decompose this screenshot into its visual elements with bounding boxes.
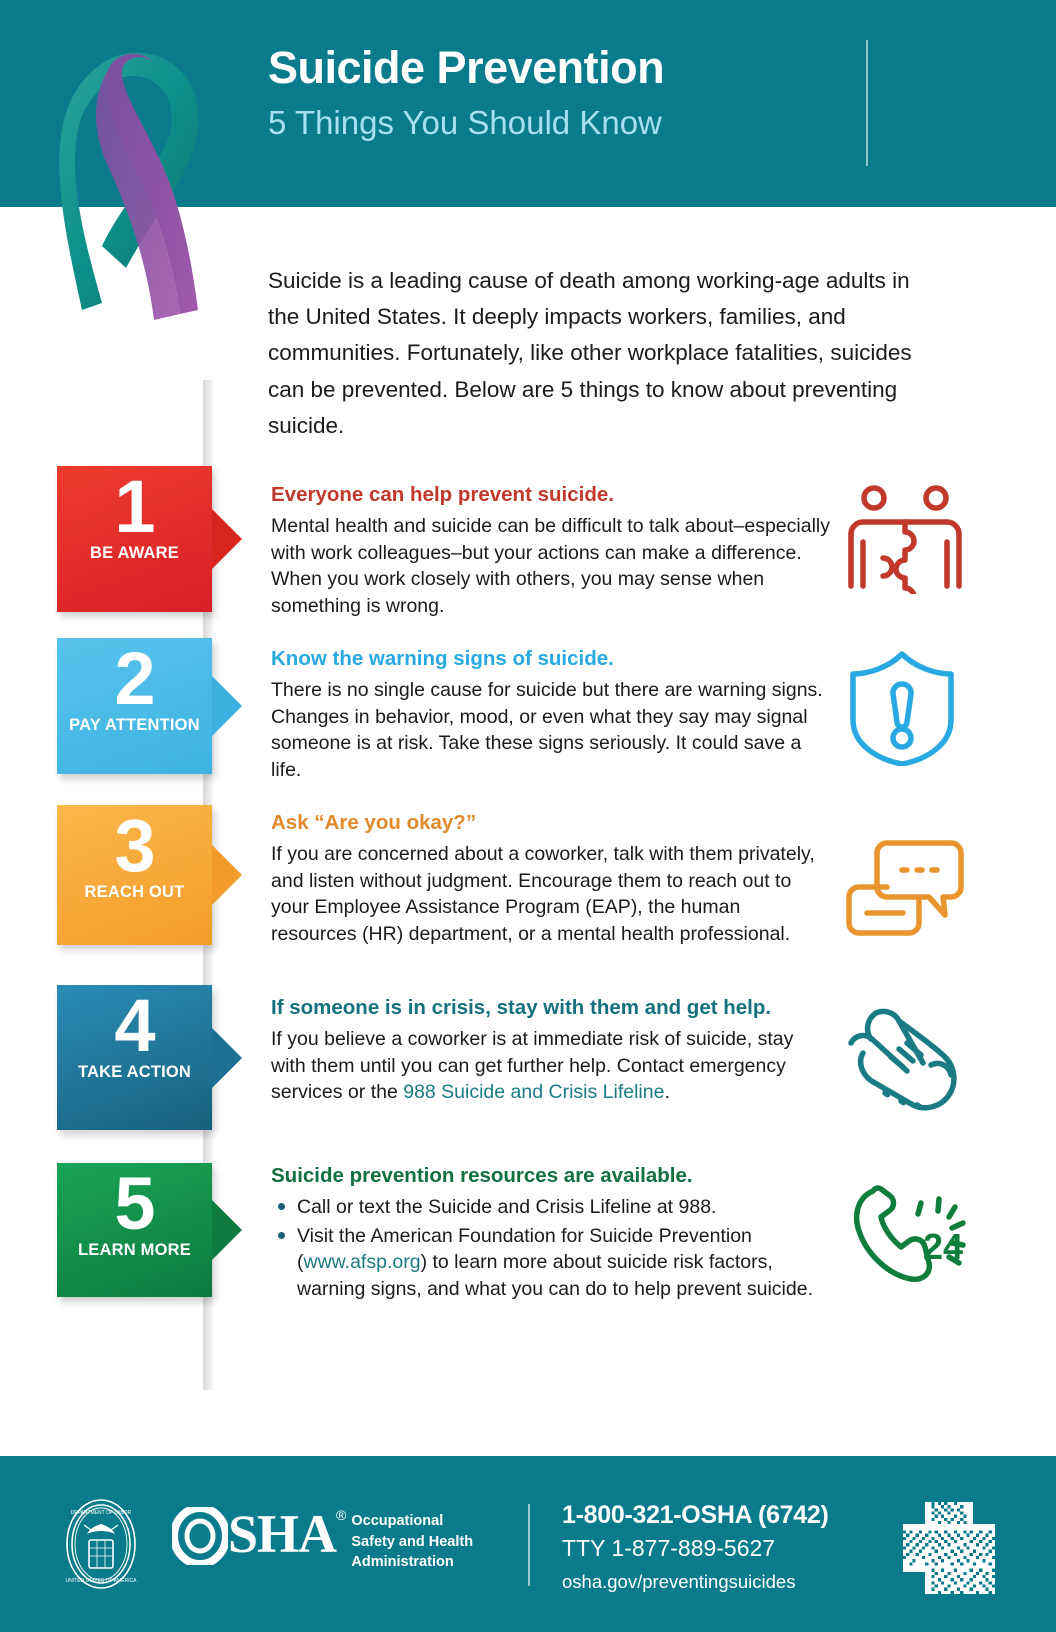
- step-arrow-3: [212, 845, 242, 905]
- osha-logo: SHA®OccupationalSafety and HealthAdminis…: [172, 1507, 473, 1573]
- step-body-4-post: .: [664, 1081, 669, 1103]
- step-badge-label-5: LEARN MORE: [78, 1241, 191, 1260]
- step-body-1: Mental health and suicide can be difficu…: [271, 513, 831, 621]
- step-text-4: If someone is in crisis, stay with them …: [271, 995, 831, 1106]
- infographic-page: Suicide Prevention 5 Things You Should K…: [0, 0, 1056, 1632]
- step-body-2: There is no single cause for suicide but…: [271, 677, 831, 785]
- step-badge-label-3: REACH OUT: [85, 883, 185, 902]
- step-badge-2[interactable]: 2 PAY ATTENTION: [57, 638, 212, 774]
- list-item: Call or text the Suicide and Crisis Life…: [271, 1194, 831, 1221]
- list-item: Visit the American Foundation for Suicid…: [271, 1223, 831, 1304]
- title-block: Suicide Prevention 5 Things You Should K…: [268, 44, 868, 142]
- svg-text:UNITED STATES OF AMERICA: UNITED STATES OF AMERICA: [66, 1578, 138, 1584]
- step-heading-2: Know the warning signs of suicide.: [271, 646, 831, 672]
- dol-seal-icon: DEPARTMENT OF LABOR UNITED STATES OF AME…: [55, 1498, 147, 1590]
- step-number-4: 4: [114, 991, 154, 1061]
- step-badge-5[interactable]: 5 LEARN MORE: [57, 1163, 212, 1297]
- osha-o-glyph: [172, 1507, 228, 1565]
- step-heading-4: If someone is in crisis, stay with them …: [271, 995, 831, 1021]
- page-title: Suicide Prevention: [268, 44, 868, 91]
- step-icon-1: [845, 484, 975, 599]
- lifeline-link[interactable]: 988 Suicide and Crisis Lifeline: [403, 1081, 664, 1103]
- step-arrow-2: [212, 676, 242, 736]
- step-badge-label-4: TAKE ACTION: [78, 1063, 191, 1082]
- osha-wordmark: SHA: [228, 1507, 336, 1561]
- svg-text:DEPARTMENT OF LABOR: DEPARTMENT OF LABOR: [71, 1510, 132, 1516]
- step-number-2: 2: [114, 644, 154, 714]
- step-icon-4: [845, 1005, 975, 1122]
- page-subtitle: 5 Things You Should Know: [268, 105, 868, 141]
- step-badge-1[interactable]: 1 BE AWARE: [57, 466, 212, 612]
- step-body-4: If you believe a coworker is at immediat…: [271, 1026, 831, 1107]
- step-heading-1: Everyone can help prevent suicide.: [271, 482, 831, 508]
- step-badge-4[interactable]: 4 TAKE ACTION: [57, 985, 212, 1130]
- phone-number: 1-800-321-OSHA (6742): [562, 1500, 829, 1531]
- step-icon-3: [845, 835, 975, 945]
- step-badge-label-1: BE AWARE: [90, 544, 179, 563]
- registered-mark: ®: [336, 1507, 346, 1523]
- step-text-3: Ask “Are you okay?” If you are concerned…: [271, 810, 831, 948]
- tty-number: TTY 1-877-889-5627: [562, 1534, 829, 1564]
- step-text-1: Everyone can help prevent suicide. Menta…: [271, 482, 831, 620]
- step-arrow-5: [212, 1200, 242, 1260]
- step-body-3: If you are concerned about a coworker, t…: [271, 841, 831, 949]
- osha-subtitle: OccupationalSafety and HealthAdministrat…: [351, 1511, 473, 1573]
- contact-block: 1-800-321-OSHA (6742) TTY 1-877-889-5627…: [562, 1500, 829, 1594]
- footer-banner: DEPARTMENT OF LABOR UNITED STATES OF AME…: [0, 1456, 1056, 1632]
- website-url[interactable]: osha.gov/preventingsuicides: [562, 1570, 829, 1594]
- afsp-link[interactable]: www.afsp.org: [304, 1251, 421, 1273]
- step-badge-3[interactable]: 3 REACH OUT: [57, 805, 212, 945]
- step-heading-3: Ask “Are you okay?”: [271, 810, 831, 836]
- step-icon-2: [845, 648, 975, 771]
- resource-list: Call or text the Suicide and Crisis Life…: [271, 1194, 831, 1304]
- step-heading-5: Suicide prevention resources are availab…: [271, 1163, 831, 1189]
- bullet-1-text: Call or text the Suicide and Crisis Life…: [297, 1196, 716, 1218]
- step-number-5: 5: [114, 1169, 154, 1239]
- intro-paragraph: Suicide is a leading cause of death amon…: [268, 263, 918, 445]
- osha-subtitle-line1: Occupational: [351, 1513, 443, 1529]
- step-number-1: 1: [114, 472, 154, 542]
- step-arrow-4: [212, 1028, 242, 1088]
- osha-subtitle-line2: Safety and Health: [351, 1534, 473, 1550]
- osha-subtitle-line3: Administration: [351, 1554, 453, 1570]
- awareness-ribbon-icon: [30, 28, 250, 328]
- step-text-5: Suicide prevention resources are availab…: [271, 1163, 831, 1305]
- step-icon-5: 24: [845, 1175, 975, 1292]
- step-badge-label-2: PAY ATTENTION: [69, 716, 200, 735]
- step-text-2: Know the warning signs of suicide. There…: [271, 646, 831, 784]
- header-divider: [866, 40, 868, 166]
- step-arrow-1: [212, 509, 242, 569]
- qr-code-icon[interactable]: [903, 1502, 995, 1594]
- step-number-3: 3: [114, 811, 154, 881]
- footer-divider: [528, 1504, 530, 1586]
